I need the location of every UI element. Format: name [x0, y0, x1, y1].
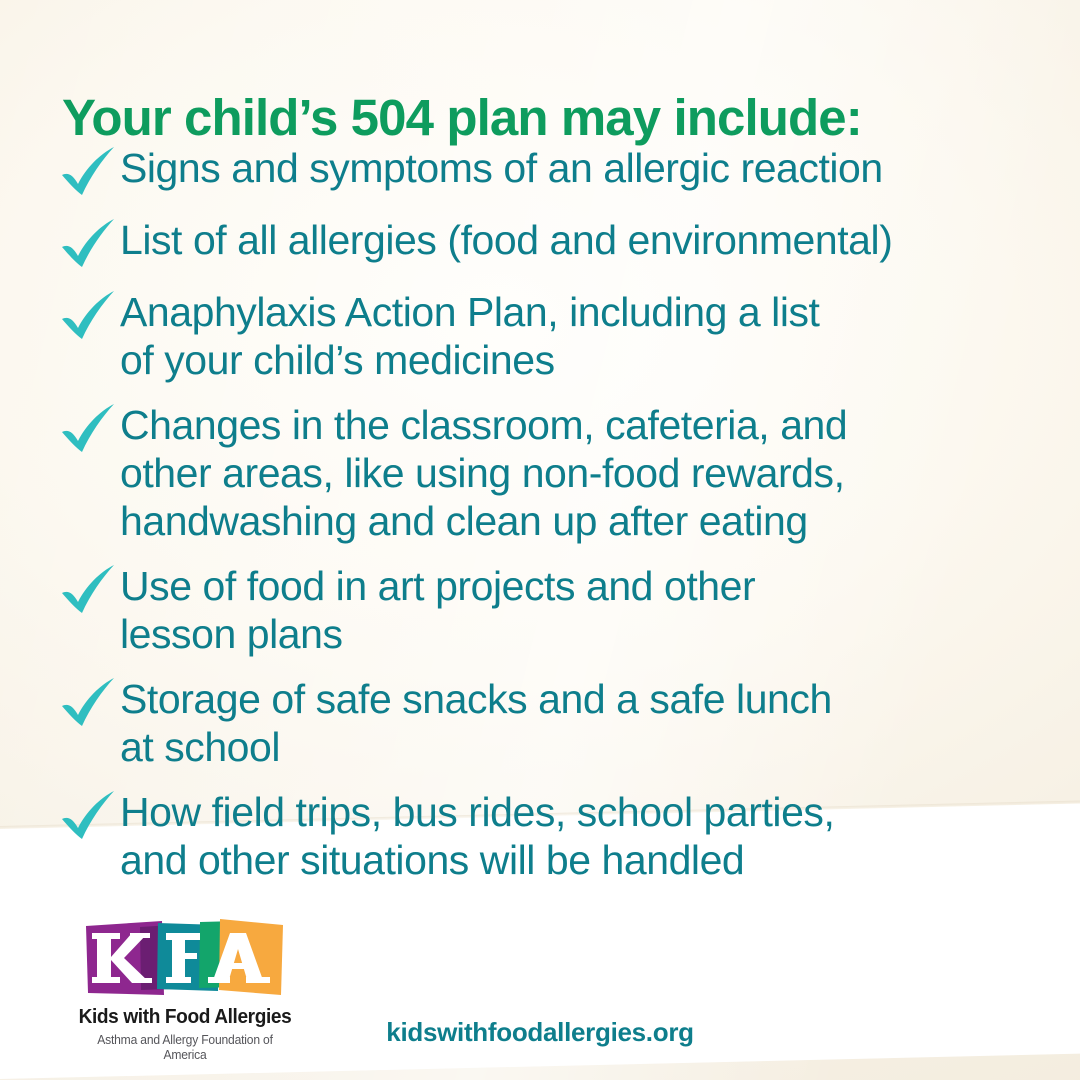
checklist-item-label: Use of food in art projects and other le… — [120, 560, 1058, 658]
footer: Kids with Food Allergies Asthma and Alle… — [0, 905, 1080, 1080]
check-icon — [58, 288, 120, 346]
checklist-item: List of all allergies (food and environm… — [58, 214, 1058, 274]
check-icon — [58, 216, 120, 274]
kfa-logo-mark — [80, 917, 290, 999]
poster-content: Your child’s 504 plan may include: Signs… — [0, 0, 1080, 1080]
checklist-item-label: Signs and symptoms of an allergic reacti… — [120, 142, 1058, 192]
checklist-item-label: List of all allergies (food and environm… — [120, 214, 1058, 264]
checklist-item: Anaphylaxis Action Plan, including a lis… — [58, 286, 1058, 384]
checklist-item-label: Storage of safe snacks and a safe lunch … — [120, 673, 1058, 771]
checklist-item: Storage of safe snacks and a safe lunch … — [58, 673, 1058, 771]
check-icon — [58, 144, 120, 202]
checklist-item: Use of food in art projects and other le… — [58, 560, 1058, 658]
poster-canvas: Your child’s 504 plan may include: Signs… — [0, 0, 1080, 1080]
check-icon — [58, 562, 120, 620]
check-icon — [58, 675, 120, 733]
check-icon — [58, 401, 120, 459]
website-url[interactable]: kidswithfoodallergies.org — [0, 1017, 1080, 1048]
checklist-item-label: Anaphylaxis Action Plan, including a lis… — [120, 286, 1058, 384]
checklist-item: Changes in the classroom, cafeteria, and… — [58, 399, 1058, 545]
checklist-item-label: Changes in the classroom, cafeteria, and… — [120, 399, 1058, 545]
page-title: Your child’s 504 plan may include: — [62, 91, 1042, 145]
checklist-item-label: How field trips, bus rides, school parti… — [120, 786, 1058, 884]
checklist-item: Signs and symptoms of an allergic reacti… — [58, 142, 1058, 202]
checklist: Signs and symptoms of an allergic reacti… — [58, 142, 1058, 899]
checklist-item: How field trips, bus rides, school parti… — [58, 786, 1058, 884]
check-icon — [58, 788, 120, 846]
